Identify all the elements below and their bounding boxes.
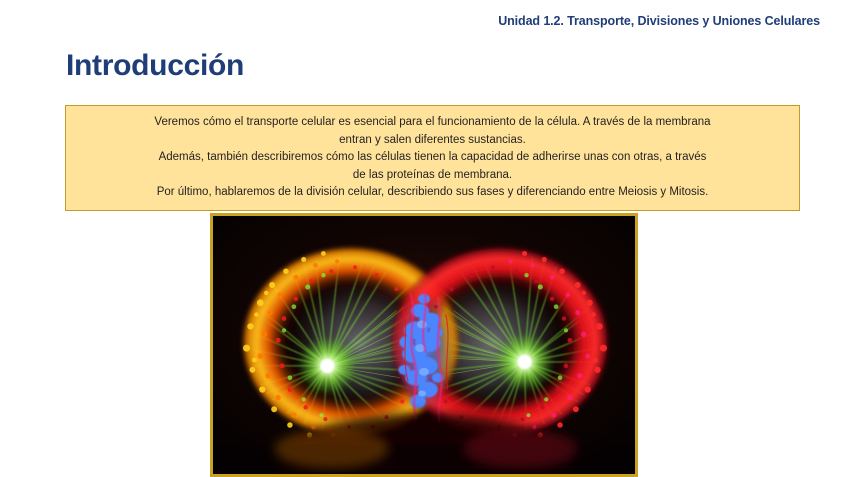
- intro-line: Por último, hablaremos de la división ce…: [74, 184, 791, 202]
- slide-header-unit-label: Unidad 1.2. Transporte, Divisiones y Uni…: [498, 14, 820, 28]
- page-title: Introducción: [66, 49, 244, 83]
- cell-division-micrograph: [213, 216, 635, 476]
- intro-line: de las proteínas de membrana.: [74, 167, 791, 185]
- intro-line: Además, también describiremos cómo las c…: [74, 149, 791, 167]
- intro-text-box: Veremos cómo el transporte celular es es…: [65, 105, 800, 211]
- intro-line: entran y salen diferentes sustancias.: [74, 132, 791, 150]
- intro-line: Veremos cómo el transporte celular es es…: [74, 114, 791, 132]
- cell-division-image-frame: [210, 213, 638, 477]
